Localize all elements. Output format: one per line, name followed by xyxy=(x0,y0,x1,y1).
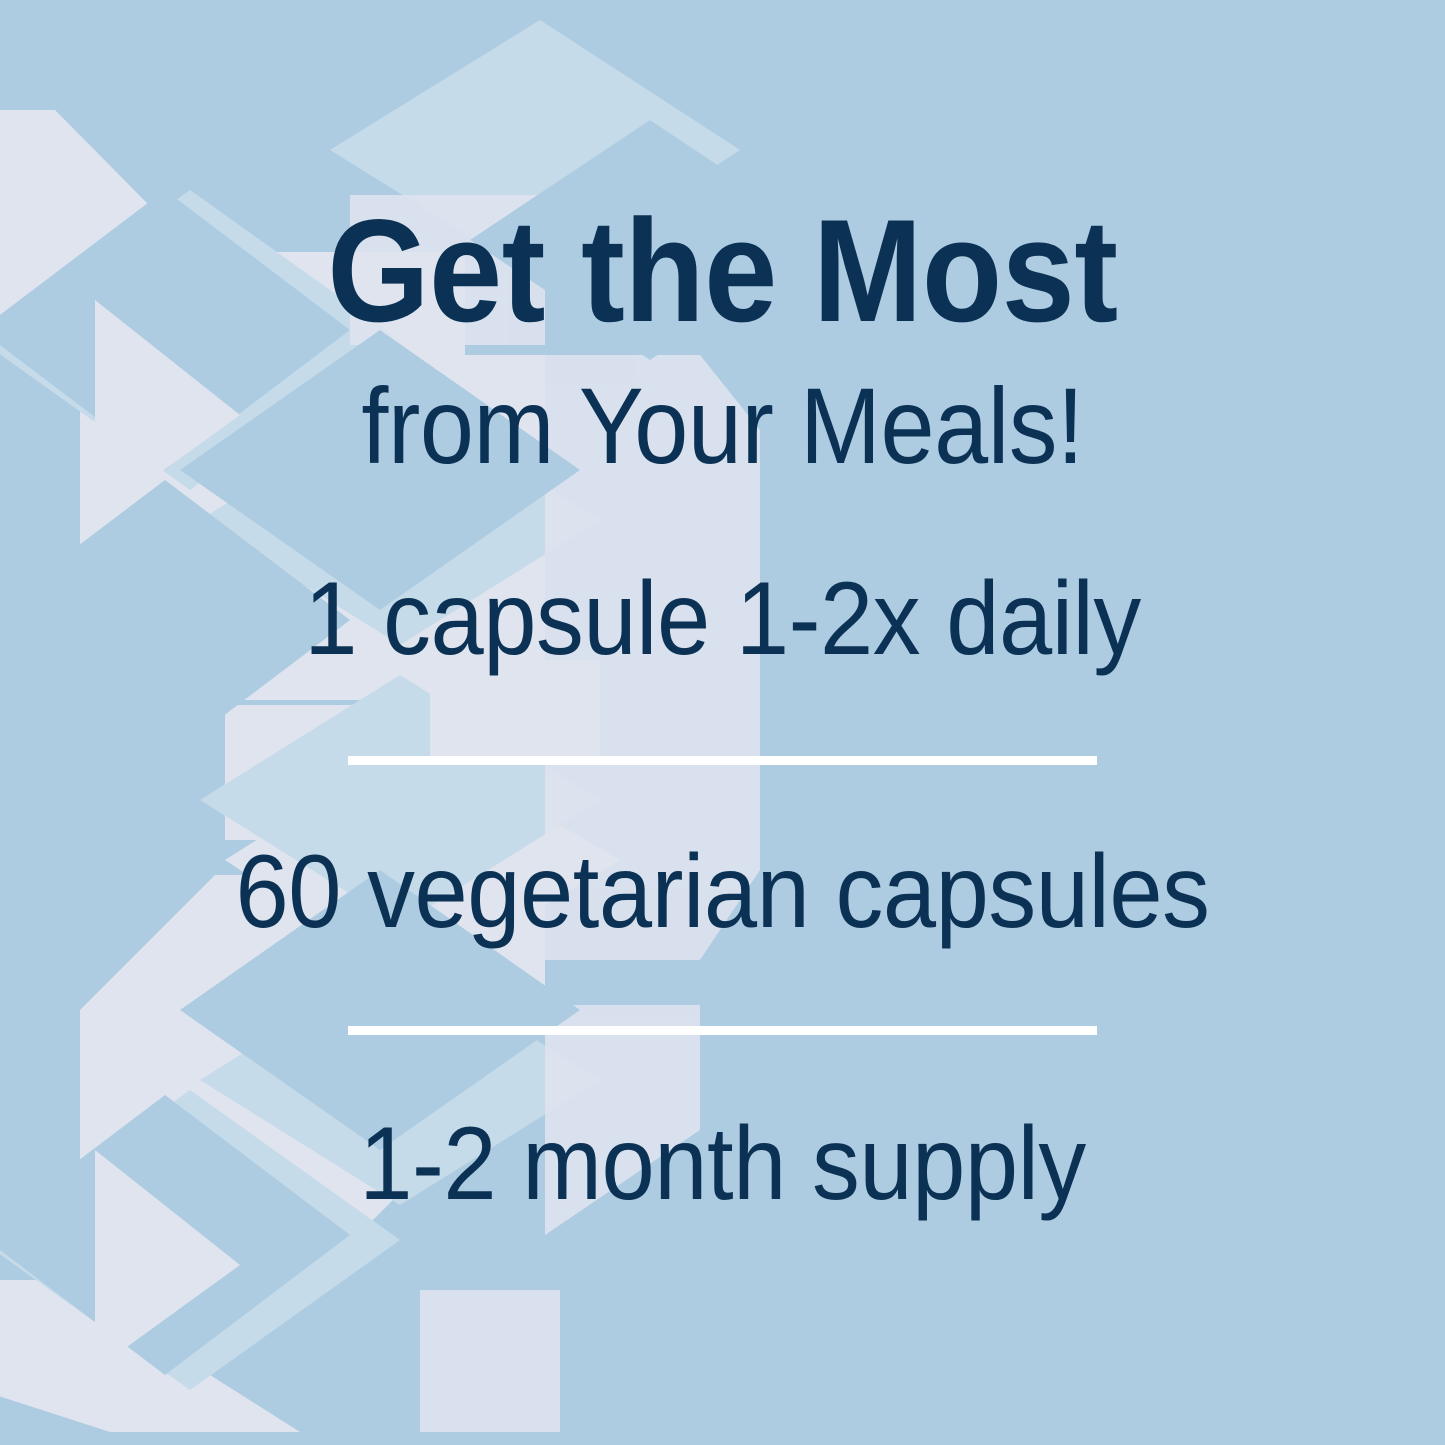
promo-content: Get the Most from Your Meals! 1 capsule … xyxy=(0,0,1445,1445)
fact-supply-duration: 1-2 month supply xyxy=(58,1110,1387,1218)
page-subtitle: from Your Meals! xyxy=(72,370,1373,482)
page-title: Get the Most xyxy=(72,196,1373,346)
promo-card: Get the Most from Your Meals! 1 capsule … xyxy=(0,0,1445,1445)
fact-capsule-count: 60 vegetarian capsules xyxy=(58,838,1387,946)
divider-above-supply-duration xyxy=(348,1026,1097,1035)
divider-above-capsule-count xyxy=(348,756,1097,765)
fact-dosage: 1 capsule 1-2x daily xyxy=(58,565,1387,673)
